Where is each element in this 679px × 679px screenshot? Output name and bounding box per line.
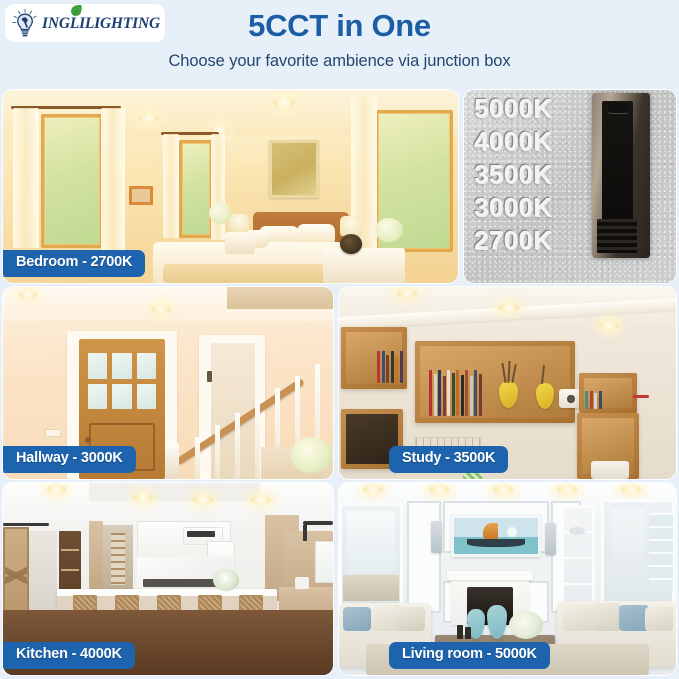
recessed-light [273,98,295,108]
room-photo-kitchen: Kitchen - 4000K [3,483,333,675]
recessed-light [47,485,66,494]
recessed-light [429,485,449,494]
room-photo-living-room: Living room - 5000K [339,483,676,675]
recessed-light [599,321,619,330]
room-label-kitchen: Kitchen - 4000K [3,642,135,669]
room-photo-bedroom: Bedroom - 2700K [3,90,458,283]
cct-option-3000k[interactable]: 3000K [474,196,594,222]
room-label-living-room: Living room - 5000K [389,642,550,669]
room-label-bedroom: Bedroom - 2700K [3,250,145,277]
wall-sconce [545,523,556,555]
slider-switch[interactable] [592,93,650,258]
recessed-light [621,485,641,494]
barn-door [3,527,29,623]
flower-arrangement [291,437,331,473]
recessed-light [397,289,417,298]
product-infographic: INGLILIGHTING 5CCT in One Choose your fa… [0,0,679,679]
recessed-light [139,114,159,123]
cct-option-5000k[interactable]: 5000K [474,97,594,123]
cct-option-3500k[interactable]: 3500K [474,163,594,189]
room-label-study: Study - 3500K [389,446,508,473]
recessed-light [151,305,171,314]
recessed-light [251,495,271,504]
cct-switch-scene[interactable]: 5000K 4000K 3500K 3000K 2700K [464,90,676,283]
header: INGLILIGHTING 5CCT in One Choose your fa… [0,0,679,88]
recessed-light [499,303,519,312]
cct-option-2700k[interactable]: 2700K [474,229,594,255]
recessed-light [557,485,577,494]
wall-shelf [341,327,407,389]
camera-decor [559,389,581,408]
room-label-hallway: Hallway - 3000K [3,446,136,473]
boat-painting [451,515,541,557]
recessed-light [193,495,213,504]
recessed-light [19,291,37,299]
recessed-light [363,485,383,494]
room-photo-hallway: Hallway - 3000K [3,287,333,479]
plant-decor [213,569,239,591]
cct-option-4000k[interactable]: 4000K [474,130,594,156]
wall-shelf [579,373,637,413]
cct-option-list: 5000K 4000K 3500K 3000K 2700K [474,97,594,262]
room-photo-study: Study - 3500K [339,287,676,479]
page-subtitle: Choose your favorite ambience via juncti… [0,52,679,71]
recessed-light [493,485,513,494]
wall-sconce [431,521,442,553]
cct-switch-photo: 5000K 4000K 3500K 3000K 2700K [464,90,676,283]
recessed-light [133,493,153,502]
room-gallery-grid: Bedroom - 2700K 5000K 4000K 3500K 3000K … [0,88,679,679]
main-bookshelf [415,341,575,423]
page-title: 5CCT in One [0,8,679,44]
